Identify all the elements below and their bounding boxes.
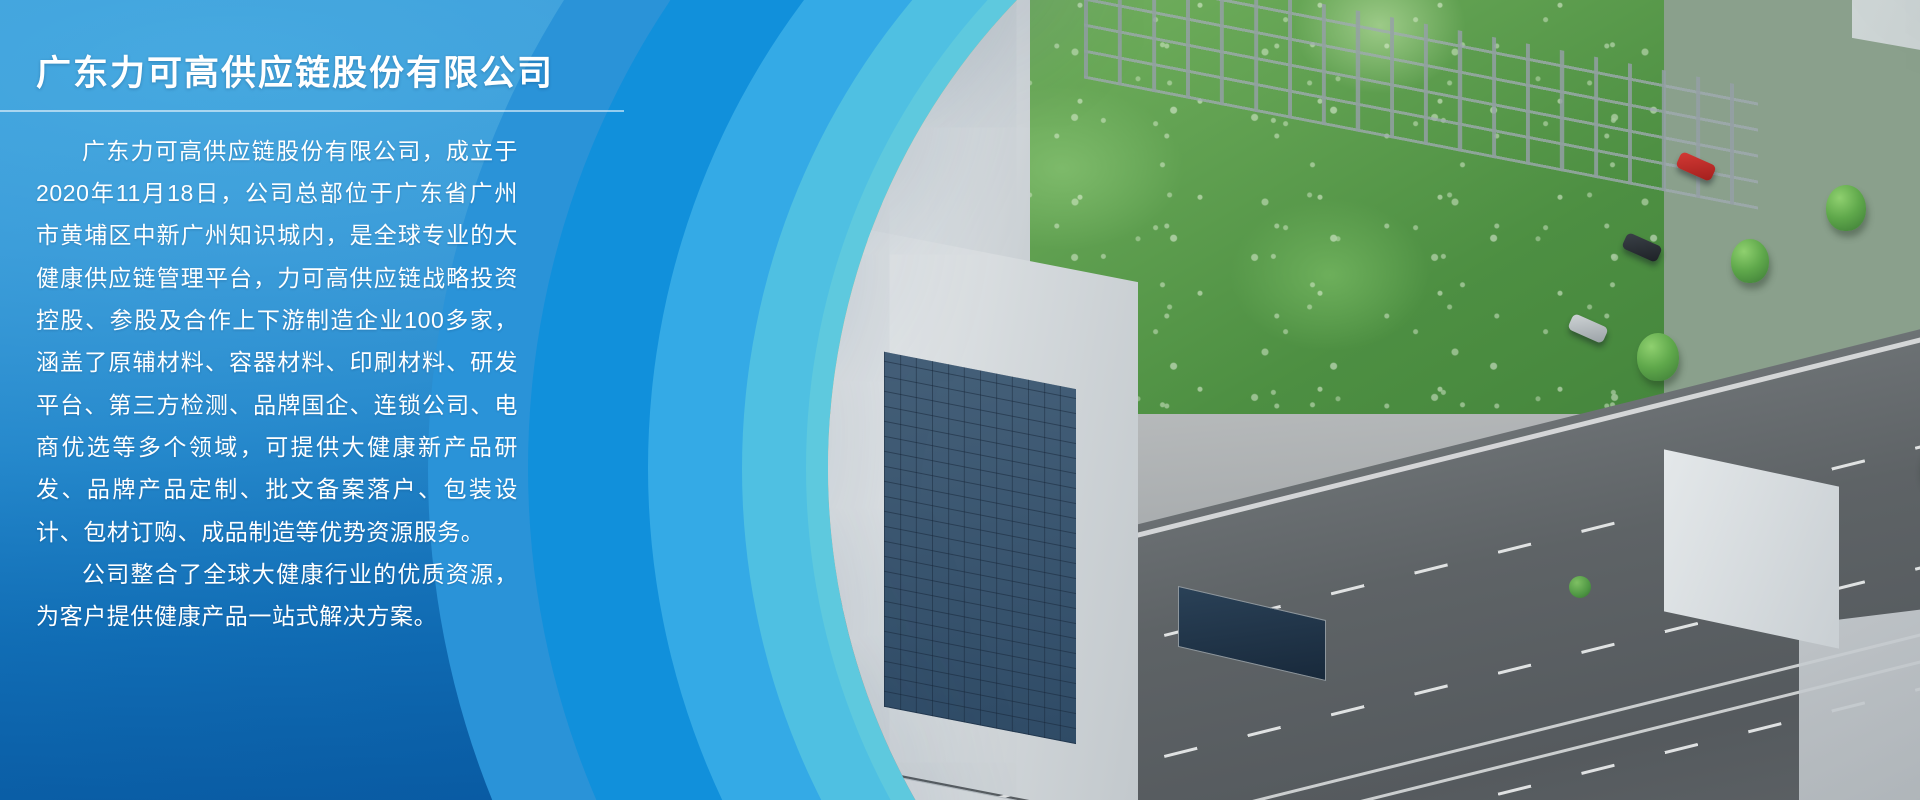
page-title: 广东力可高供应链股份有限公司 <box>36 52 640 96</box>
company-profile-banner: 广东力可高供应链股份有限公司 广东力可高供应链股份有限公司，成立于2020年11… <box>0 0 1920 800</box>
company-intro-panel: 广东力可高供应链股份有限公司 广东力可高供应链股份有限公司，成立于2020年11… <box>0 0 640 800</box>
industrial-park-aerial-photo <box>828 0 1920 800</box>
title-divider <box>0 110 624 112</box>
photo-vignette <box>828 0 1920 800</box>
description-paragraph-1: 广东力可高供应链股份有限公司，成立于2020年11月18日，公司总部位于广东省广… <box>36 130 518 553</box>
description-paragraph-2: 公司整合了全球大健康行业的优质资源，为客户提供健康产品一站式解决方案。 <box>36 553 518 638</box>
hero-image-disc <box>828 0 1920 800</box>
company-description: 广东力可高供应链股份有限公司，成立于2020年11月18日，公司总部位于广东省广… <box>36 130 518 638</box>
